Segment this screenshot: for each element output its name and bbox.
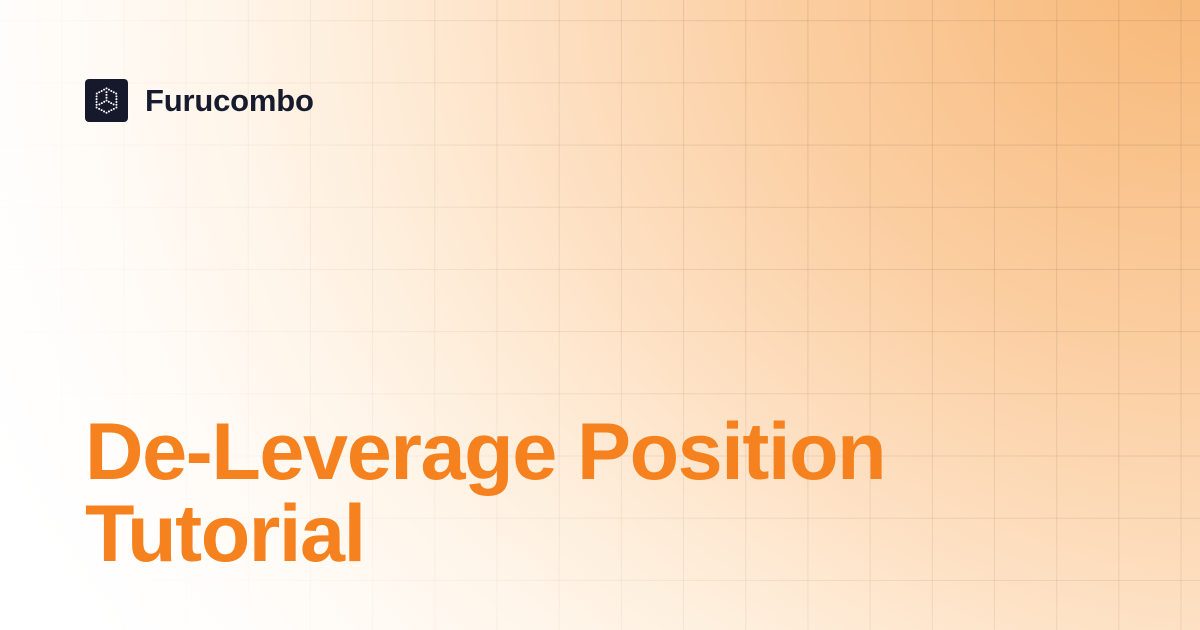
brand-lockup[interactable]: Furucombo xyxy=(85,79,314,122)
og-card: Furucombo De-Leverage Position Tutorial xyxy=(0,0,1200,630)
dotted-cube-icon xyxy=(91,85,122,116)
page-title: De-Leverage Position Tutorial xyxy=(85,411,1095,575)
page-title-line-1: De-Leverage Position xyxy=(85,411,1095,493)
page-title-line-2: Tutorial xyxy=(85,493,1095,575)
furucombo-logo-tile xyxy=(85,79,128,122)
card-content: Furucombo De-Leverage Position Tutorial xyxy=(0,0,1200,630)
brand-name: Furucombo xyxy=(145,85,314,116)
